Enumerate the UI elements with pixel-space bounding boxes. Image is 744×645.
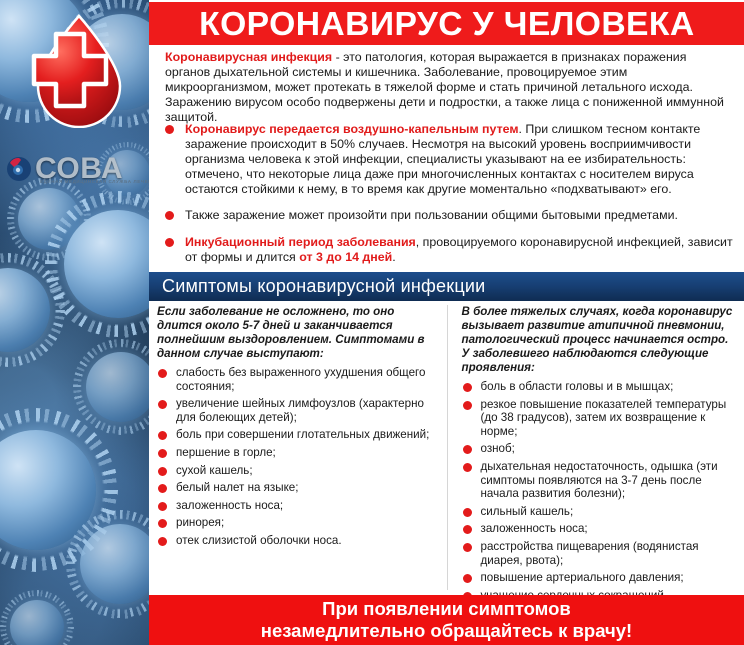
symptom-item: слабость без выраженного ухудшения общег… bbox=[157, 366, 437, 393]
section-title: Симптомы коронавирусной инфекции bbox=[162, 276, 485, 297]
symptom-text: повышение артериального давления; bbox=[481, 571, 684, 584]
bullet-dot-icon bbox=[158, 502, 167, 511]
symptom-item: першение в горле; bbox=[157, 446, 437, 460]
symptom-text: сильный кашель; bbox=[481, 505, 574, 518]
bullet-dot-icon bbox=[158, 484, 167, 493]
bullet-dot-icon bbox=[158, 537, 167, 546]
symptom-text: боль в области головы и в мышцах; bbox=[481, 380, 674, 393]
symptom-list-mild: слабость без выраженного ухудшения общег… bbox=[157, 366, 437, 548]
symptom-item: озноб; bbox=[462, 442, 735, 456]
symptom-text: отек слизистой оболочки носа. bbox=[176, 534, 342, 547]
cta-line-2: незамедлительно обращайтесь к врачу! bbox=[261, 620, 632, 642]
key-fact-lead: Коронавирус передается воздушно-капельны… bbox=[185, 122, 519, 136]
column-lead-text: В более тяжелых случаях, когда коронавир… bbox=[462, 305, 735, 375]
column-lead-text: Если заболевание не осложнено, то оно дл… bbox=[157, 305, 437, 361]
bullet-dot-icon bbox=[165, 211, 174, 220]
virus-particle-icon bbox=[10, 600, 64, 645]
symptom-text: боль при совершении глотательных движени… bbox=[176, 428, 429, 441]
title-banner: КОРОНАВИРУС У ЧЕЛОВЕКА bbox=[149, 2, 744, 45]
key-fact-item: Коронавирус передается воздушно-капельны… bbox=[163, 122, 735, 197]
bullet-dot-icon bbox=[165, 125, 174, 134]
symptom-item: боль в области головы и в мышцах; bbox=[462, 380, 735, 394]
key-fact-text: Также заражение может произойти при поль… bbox=[185, 208, 678, 222]
symptom-item: расстройства пищеварения (водянистая диа… bbox=[462, 540, 735, 567]
symptom-item: боль при совершении глотательных движени… bbox=[157, 428, 437, 442]
symptom-item: заложенность носа; bbox=[462, 522, 735, 536]
key-fact-item: Инкубационный период заболевания, провоц… bbox=[163, 235, 735, 265]
virus-particle-icon bbox=[64, 210, 149, 318]
intro-paragraph: Коронавирусная инфекция - это патология,… bbox=[165, 50, 731, 125]
key-fact-highlight: от 3 до 14 дней bbox=[299, 250, 392, 264]
symptoms-column-severe: В более тяжелых случаях, когда коронавир… bbox=[447, 305, 744, 590]
symptom-item: ринорея; bbox=[157, 516, 437, 530]
symptom-text: першение в горле; bbox=[176, 446, 276, 459]
call-to-action-banner: При появлении симптомов незамедлительно … bbox=[149, 595, 744, 645]
virus-particle-icon bbox=[80, 524, 149, 604]
virus-particle-icon bbox=[86, 352, 149, 422]
symptom-text: сухой кашель; bbox=[176, 464, 253, 477]
bullet-dot-icon bbox=[463, 543, 472, 552]
bullet-dot-icon bbox=[158, 431, 167, 440]
symptom-item: отек слизистой оболочки носа. bbox=[157, 534, 437, 548]
symptom-text: расстройства пищеварения (водянистая диа… bbox=[481, 540, 699, 567]
symptom-text: слабость без выраженного ухудшения общег… bbox=[176, 366, 425, 393]
symptom-list-severe: боль в области головы и в мышцах; резкое… bbox=[462, 380, 735, 602]
key-fact-lead: Инкубационный период заболевания bbox=[185, 235, 416, 249]
symptom-item: заложенность носа; bbox=[157, 499, 437, 513]
bullet-dot-icon bbox=[463, 574, 472, 583]
bullet-dot-icon bbox=[165, 238, 174, 247]
bullet-dot-icon bbox=[463, 463, 472, 472]
content-column: КОРОНАВИРУС У ЧЕЛОВЕКА Коронавирусная ин… bbox=[149, 0, 744, 645]
sova-watermark-logo: СОВА ЕДИНАЯ МЕДИЦИНСКАЯ СЛУЖБА ЛЕЧЕНИЯ bbox=[6, 149, 138, 189]
virus-particle-icon bbox=[0, 268, 50, 352]
bullet-dot-icon bbox=[463, 383, 472, 392]
bullet-dot-icon bbox=[463, 445, 472, 454]
symptom-item: увеличение шейных лимфоузлов (характерно… bbox=[157, 397, 437, 424]
page-title: КОРОНАВИРУС У ЧЕЛОВЕКА bbox=[199, 7, 694, 40]
symptoms-columns: Если заболевание не осложнено, то оно дл… bbox=[149, 305, 744, 590]
symptom-text: дыхательная недостаточность, одышка (эти… bbox=[481, 460, 718, 500]
bullet-dot-icon bbox=[158, 369, 167, 378]
symptom-text: белый налет на языке; bbox=[176, 481, 298, 494]
key-fact-text-tail: . bbox=[392, 250, 395, 264]
cta-line-1: При появлении симптомов bbox=[322, 598, 571, 620]
intro-lead: Коронавирусная инфекция bbox=[165, 50, 332, 64]
symptom-item: дыхательная недостаточность, одышка (эти… bbox=[462, 460, 735, 501]
symptom-item: белый налет на языке; bbox=[157, 481, 437, 495]
symptom-item: повышение артериального давления; bbox=[462, 571, 735, 585]
bullet-dot-icon bbox=[158, 400, 167, 409]
bullet-dot-icon bbox=[158, 449, 167, 458]
sova-tagline: ЕДИНАЯ МЕДИЦИНСКАЯ СЛУЖБА ЛЕЧЕНИЯ bbox=[40, 179, 149, 184]
bullet-dot-icon bbox=[158, 519, 167, 528]
symptom-text: заложенность носа; bbox=[176, 499, 283, 512]
virus-background-sidebar: СОВА ЕДИНАЯ МЕДИЦИНСКАЯ СЛУЖБА ЛЕЧЕНИЯ bbox=[0, 0, 149, 645]
bullet-dot-icon bbox=[463, 508, 472, 517]
blood-drop-medical-cross-icon bbox=[16, 10, 128, 128]
symptom-item: резкое повышение показателей температуры… bbox=[462, 398, 735, 439]
symptom-text: увеличение шейных лимфоузлов (характерно… bbox=[176, 397, 424, 424]
symptom-item: сухой кашель; bbox=[157, 464, 437, 478]
symptom-text: резкое повышение показателей температуры… bbox=[481, 398, 727, 438]
symptom-text: озноб; bbox=[481, 442, 515, 455]
symptom-text: ринорея; bbox=[176, 516, 224, 529]
bullet-dot-icon bbox=[463, 401, 472, 410]
key-fact-item: Также заражение может произойти при поль… bbox=[163, 208, 735, 223]
symptoms-column-mild: Если заболевание не осложнено, то оно дл… bbox=[149, 305, 447, 590]
symptom-item: сильный кашель; bbox=[462, 505, 735, 519]
bullet-dot-icon bbox=[158, 467, 167, 476]
symptoms-section-header: Симптомы коронавирусной инфекции bbox=[149, 272, 744, 301]
infographic-poster: СОВА ЕДИНАЯ МЕДИЦИНСКАЯ СЛУЖБА ЛЕЧЕНИЯ К… bbox=[0, 0, 744, 645]
sova-owl-icon bbox=[6, 155, 32, 183]
key-facts-list: Коронавирус передается воздушно-капельны… bbox=[163, 122, 735, 276]
symptom-text: заложенность носа; bbox=[481, 522, 588, 535]
bullet-dot-icon bbox=[463, 525, 472, 534]
